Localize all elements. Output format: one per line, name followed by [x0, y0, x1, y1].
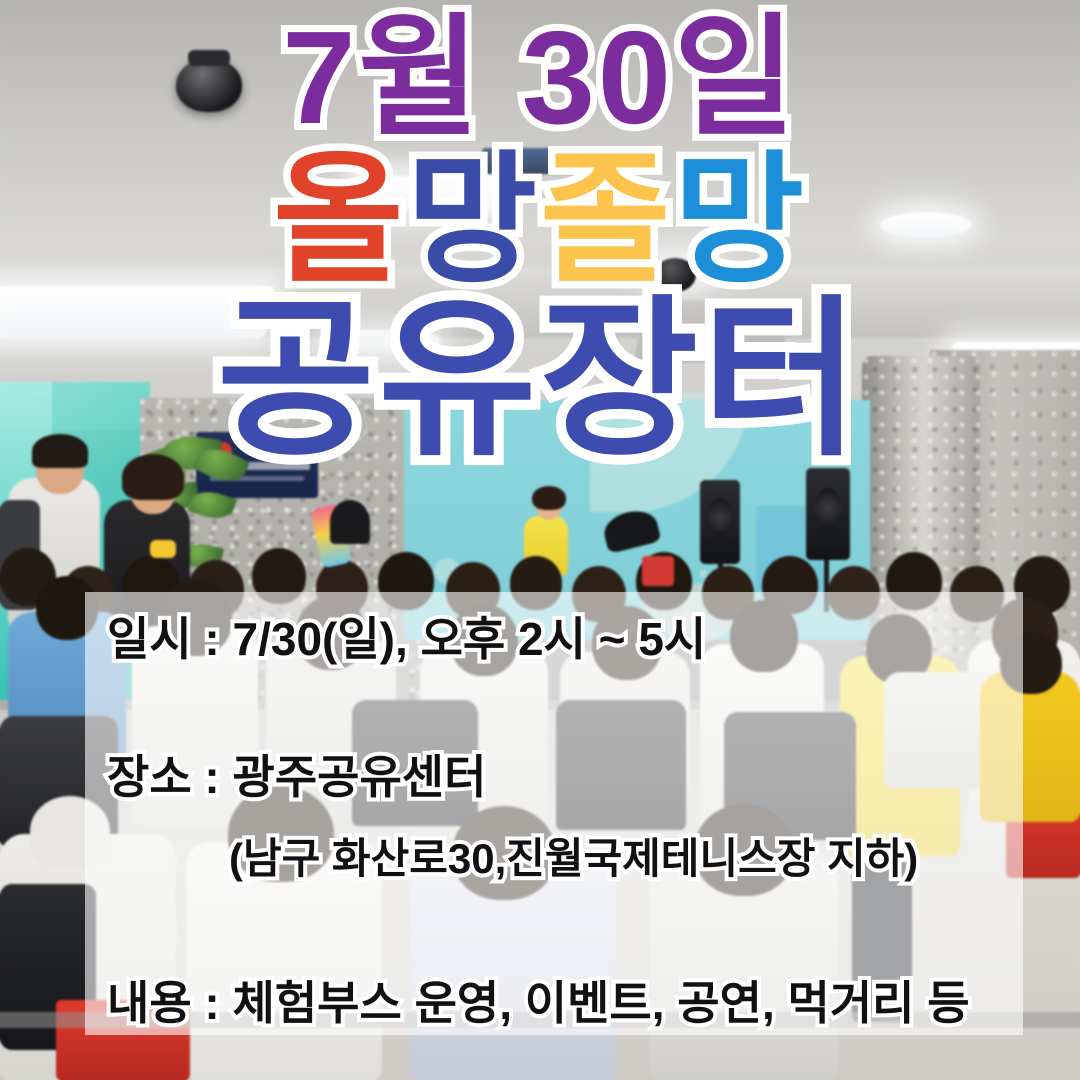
- title-main: 공유장터: [0, 294, 1080, 466]
- red-sign: [642, 556, 674, 586]
- poster-title-block: 7월 30일 올망졸망 공유장터: [0, 0, 1080, 466]
- title-sub-char-3: 졸: [540, 141, 673, 300]
- title-sub-char-2: 망: [407, 141, 540, 300]
- hair-clip: [150, 540, 176, 558]
- title-sub-char-4: 망: [673, 141, 806, 300]
- info-content: 내용 : 체험부스 운영, 이벤트, 공연, 먹거리 등: [107, 980, 1005, 1026]
- info-panel-content: 일시 : 7/30(일), 오후 2시 ~ 5시 장소 : 광주공유센터 (남구…: [107, 616, 1005, 1026]
- pa-speaker: [806, 468, 850, 560]
- performer-hair: [532, 486, 566, 510]
- title-subtitle: 올망졸망: [0, 150, 1080, 292]
- title-sub-char-1: 올: [273, 141, 406, 300]
- info-place: 장소 : 광주공유센터: [107, 754, 1005, 800]
- title-date: 7월 30일: [0, 12, 1080, 144]
- info-panel: 일시 : 7/30(일), 오후 2시 ~ 5시 장소 : 광주공유센터 (남구…: [85, 592, 1023, 1035]
- info-address: (남구 화산로30,진월국제테니스장 지하): [107, 838, 1005, 880]
- info-datetime: 일시 : 7/30(일), 오후 2시 ~ 5시: [107, 616, 1005, 662]
- pa-speaker: [700, 480, 740, 564]
- black-hat: [330, 500, 370, 544]
